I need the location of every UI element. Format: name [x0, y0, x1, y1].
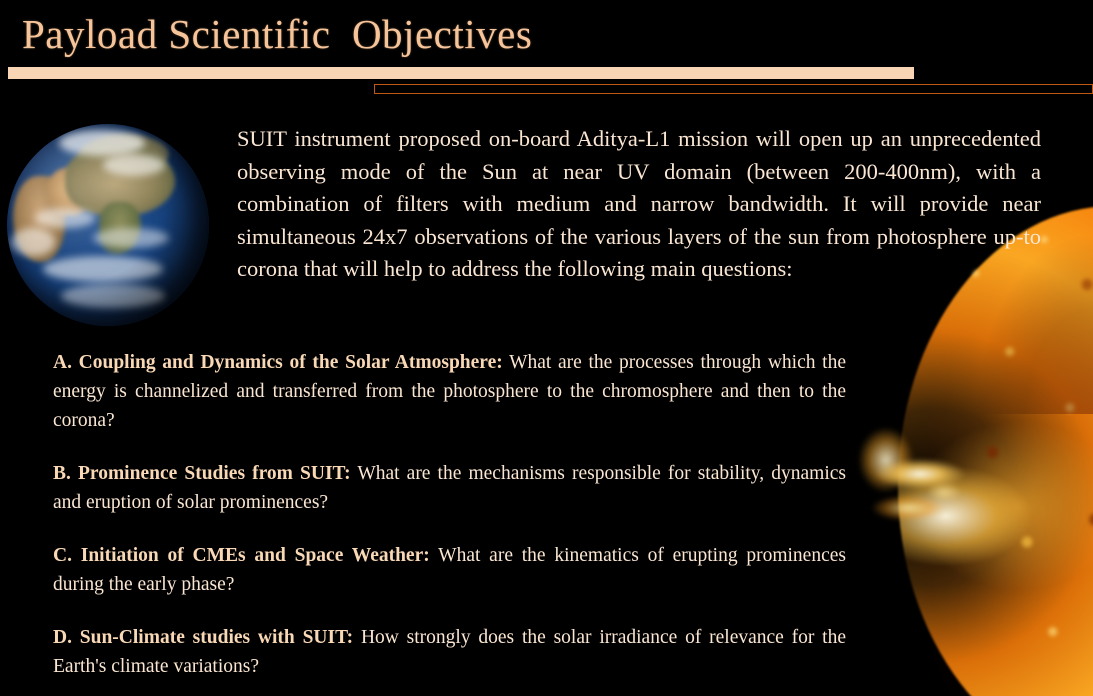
- objective-item-d: D. Sun-Climate studies with SUIT: How st…: [53, 623, 846, 681]
- earth-landmass-siberia: [79, 134, 169, 174]
- objective-heading-c: C. Initiation of CMEs and Space Weather:: [53, 545, 430, 566]
- earth-landmass-india: [99, 202, 141, 254]
- title-rule-secondary: [374, 84, 1093, 94]
- solar-prominence: [848, 416, 998, 551]
- objective-item-a: A. Coupling and Dynamics of the Solar At…: [53, 348, 846, 435]
- objective-heading-d: D. Sun-Climate studies with SUIT:: [53, 627, 353, 648]
- earth-landmass-africa: [13, 176, 65, 262]
- objective-item-c: C. Initiation of CMEs and Space Weather:…: [53, 541, 846, 599]
- objective-heading-a: A. Coupling and Dynamics of the Solar At…: [53, 352, 503, 373]
- earth-landmass-asia: [65, 144, 175, 216]
- earth-terminator-shading: [7, 124, 209, 326]
- earth-cloud-band: [93, 228, 169, 248]
- earth-cloud-band: [11, 228, 55, 256]
- earth-cloud-band: [61, 284, 165, 308]
- earth-globe-image: [3, 121, 214, 331]
- slide-title: Payload Scientific Objectives: [22, 8, 532, 60]
- earth-cloud-band: [59, 130, 145, 156]
- objective-heading-b: B. Prominence Studies from SUIT:: [53, 463, 351, 484]
- presentation-slide: Payload Scientific Objectives SUIT instr…: [0, 0, 1093, 696]
- earth-cloud-band: [35, 208, 95, 228]
- objectives-list: A. Coupling and Dynamics of the Solar At…: [53, 348, 846, 681]
- earth-cloud-band: [43, 256, 163, 282]
- earth-landmass-arabia: [47, 168, 91, 216]
- intro-paragraph: SUIT instrument proposed on-board Aditya…: [237, 123, 1041, 286]
- earth-globe: [7, 124, 209, 326]
- earth-cloud-band: [103, 154, 165, 176]
- objective-item-b: B. Prominence Studies from SUIT: What ar…: [53, 459, 846, 517]
- title-rule-primary: [8, 67, 914, 79]
